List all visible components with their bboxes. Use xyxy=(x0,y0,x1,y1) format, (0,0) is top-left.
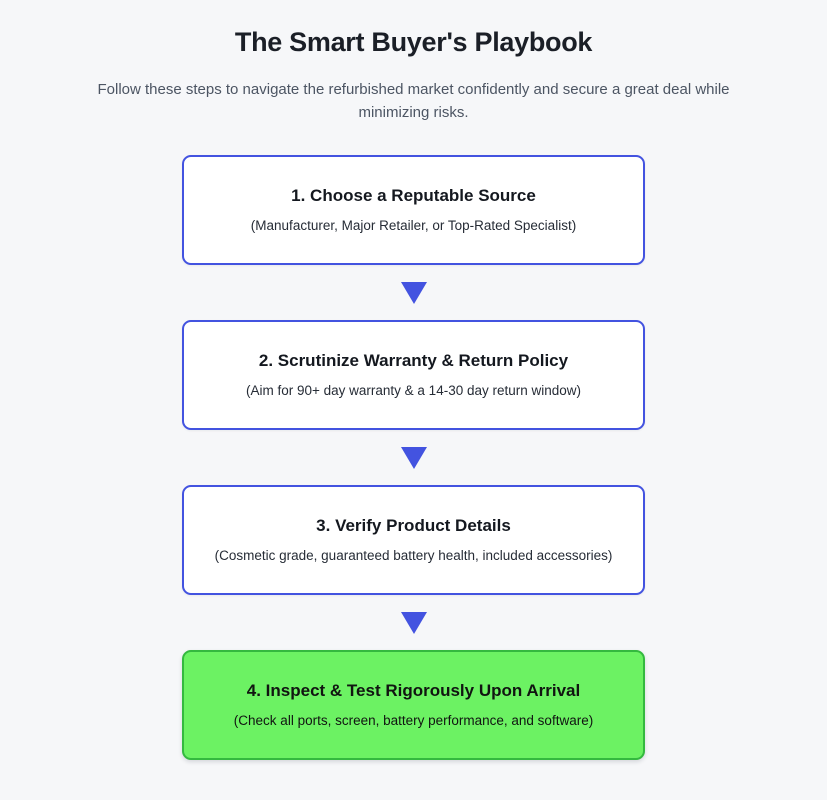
flow-step-1[interactable]: 1. Choose a Reputable Source (Manufactur… xyxy=(182,155,645,265)
flow-step-title: 3. Verify Product Details xyxy=(316,515,511,538)
playbook-page: The Smart Buyer's Playbook Follow these … xyxy=(0,0,827,800)
flow-connector-3 xyxy=(401,595,427,650)
arrow-down-icon xyxy=(401,447,427,469)
page-title: The Smart Buyer's Playbook xyxy=(40,26,787,60)
flow-step-title: 4. Inspect & Test Rigorously Upon Arriva… xyxy=(247,680,580,703)
flow-step-description: (Cosmetic grade, guaranteed battery heal… xyxy=(215,546,613,566)
flow-step-3[interactable]: 3. Verify Product Details (Cosmetic grad… xyxy=(182,485,645,595)
page-subtitle: Follow these steps to navigate the refur… xyxy=(64,78,764,125)
flow-connector-1 xyxy=(401,265,427,320)
arrow-down-icon xyxy=(401,612,427,634)
flow-step-title: 1. Choose a Reputable Source xyxy=(291,185,536,208)
flow-step-description: (Manufacturer, Major Retailer, or Top-Ra… xyxy=(251,216,576,236)
page-header: The Smart Buyer's Playbook Follow these … xyxy=(0,26,827,124)
flow-step-description: (Aim for 90+ day warranty & a 14-30 day … xyxy=(246,381,581,401)
playbook-flowchart: 1. Choose a Reputable Source (Manufactur… xyxy=(0,155,827,760)
flow-step-2[interactable]: 2. Scrutinize Warranty & Return Policy (… xyxy=(182,320,645,430)
flow-step-title: 2. Scrutinize Warranty & Return Policy xyxy=(259,350,568,373)
flow-step-description: (Check all ports, screen, battery perfor… xyxy=(234,711,593,731)
arrow-down-icon xyxy=(401,282,427,304)
flow-step-4[interactable]: 4. Inspect & Test Rigorously Upon Arriva… xyxy=(182,650,645,760)
flow-connector-2 xyxy=(401,430,427,485)
